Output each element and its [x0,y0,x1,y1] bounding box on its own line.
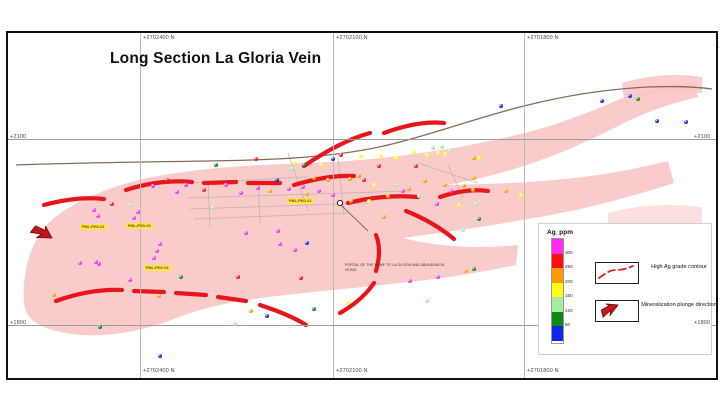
ramp-band [552,283,563,298]
drillhole-label: PML-PEG-02 [80,224,107,230]
grid-line-vertical [524,33,525,378]
ramp-band [552,326,563,341]
legend-plunge-label: Mineralization plunge direction [640,302,718,309]
grid-line-horizontal [8,139,716,140]
ramp-tick-label: 50 [565,322,570,327]
grid-line-vertical [333,33,334,378]
grid-label-top: +2702100 N [336,35,368,41]
drillhole-label: PML-PEG-03 [126,223,153,229]
ramp-band [552,268,563,283]
ramp-tick-label: 150 [565,293,573,298]
legend-contour-label: High Ag grade contour [640,264,718,271]
portal-marker [337,200,342,205]
portal-annotation: PORTAL OF THE RAMP TO LA GLORIA AND ABUN… [345,263,450,273]
legend-panel: Ag_ppm 30025020015012050 High Ag grade c… [538,223,712,355]
ramp-band [552,254,563,269]
ramp-tick-label: 300 [565,250,573,255]
elev-label-right: +2100 [694,134,710,140]
ramp-tick-label: 120 [565,308,573,313]
map-frame: PML-PEG-02PML-PEG-03PML-PEG-04PML-PEG-01… [6,31,718,380]
legend-contour-swatch [595,262,639,284]
grid-label-top: +2701800 N [527,35,559,41]
ramp-band [552,239,563,254]
ramp-tick-label: 200 [565,279,573,284]
elev-label-right: +1800 [694,320,710,326]
long-section-map-page: N S [0,0,720,405]
ramp-band [552,312,563,327]
page-title: Long Section La Gloria Vein [110,50,321,68]
grid-label-bottom: +2701800 N [527,368,559,374]
drillhole-label: PML-PEG-01 [287,198,314,204]
drillhole-label: PML-PEG-04 [144,265,171,271]
ag-ppm-color-ramp [551,238,564,344]
ramp-tick-label: 250 [565,264,573,269]
grid-label-top: +2702400 N [143,35,175,41]
grid-label-bottom: +2702400 N [143,368,175,374]
dashed-red-contour-icon [596,263,636,281]
legend-plunge-swatch [595,300,639,322]
legend-ramp-title: Ag_ppm [547,229,573,236]
elev-label-left: +2100 [10,134,26,140]
grid-label-bottom: +2702100 N [336,368,368,374]
ramp-band [552,297,563,312]
red-plunge-arrow-icon [596,301,636,319]
grid-line-vertical [140,33,141,378]
elev-label-left: +1800 [10,320,26,326]
